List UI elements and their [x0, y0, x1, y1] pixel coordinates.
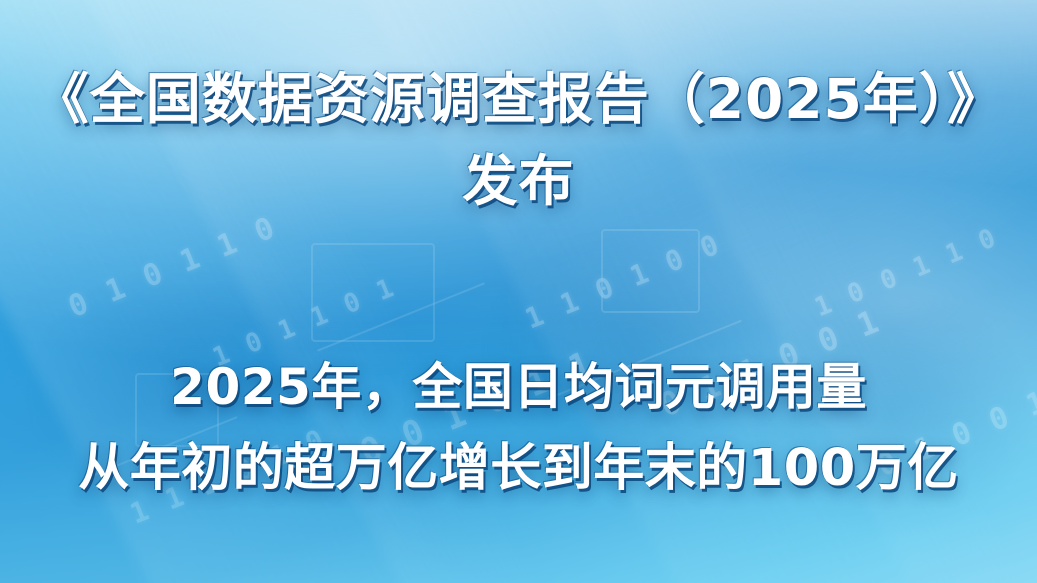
poster-image: 0 1 0 1 1 0 1 0 1 1 0 1 0 0 1 0 1 1 1 1 … [0, 0, 1037, 583]
poster-headline: 《全国数据资源调查报告（2025年）》 发布 [0, 0, 1037, 219]
poster-text-layer: 《全国数据资源调查报告（2025年）》 发布 2025年，全国日均词元调用量 从… [0, 0, 1037, 583]
headline-line-1: 《全国数据资源调查报告（2025年）》 [0, 62, 1037, 136]
subtitle-line-2: 从年初的超万亿增长到年末的100万亿 [0, 433, 1037, 505]
headline-line-2: 发布 [0, 144, 1037, 218]
poster-subtitle: 2025年，全国日均词元调用量 从年初的超万亿增长到年末的100万亿 [0, 352, 1037, 505]
subtitle-line-1: 2025年，全国日均词元调用量 [0, 352, 1037, 423]
